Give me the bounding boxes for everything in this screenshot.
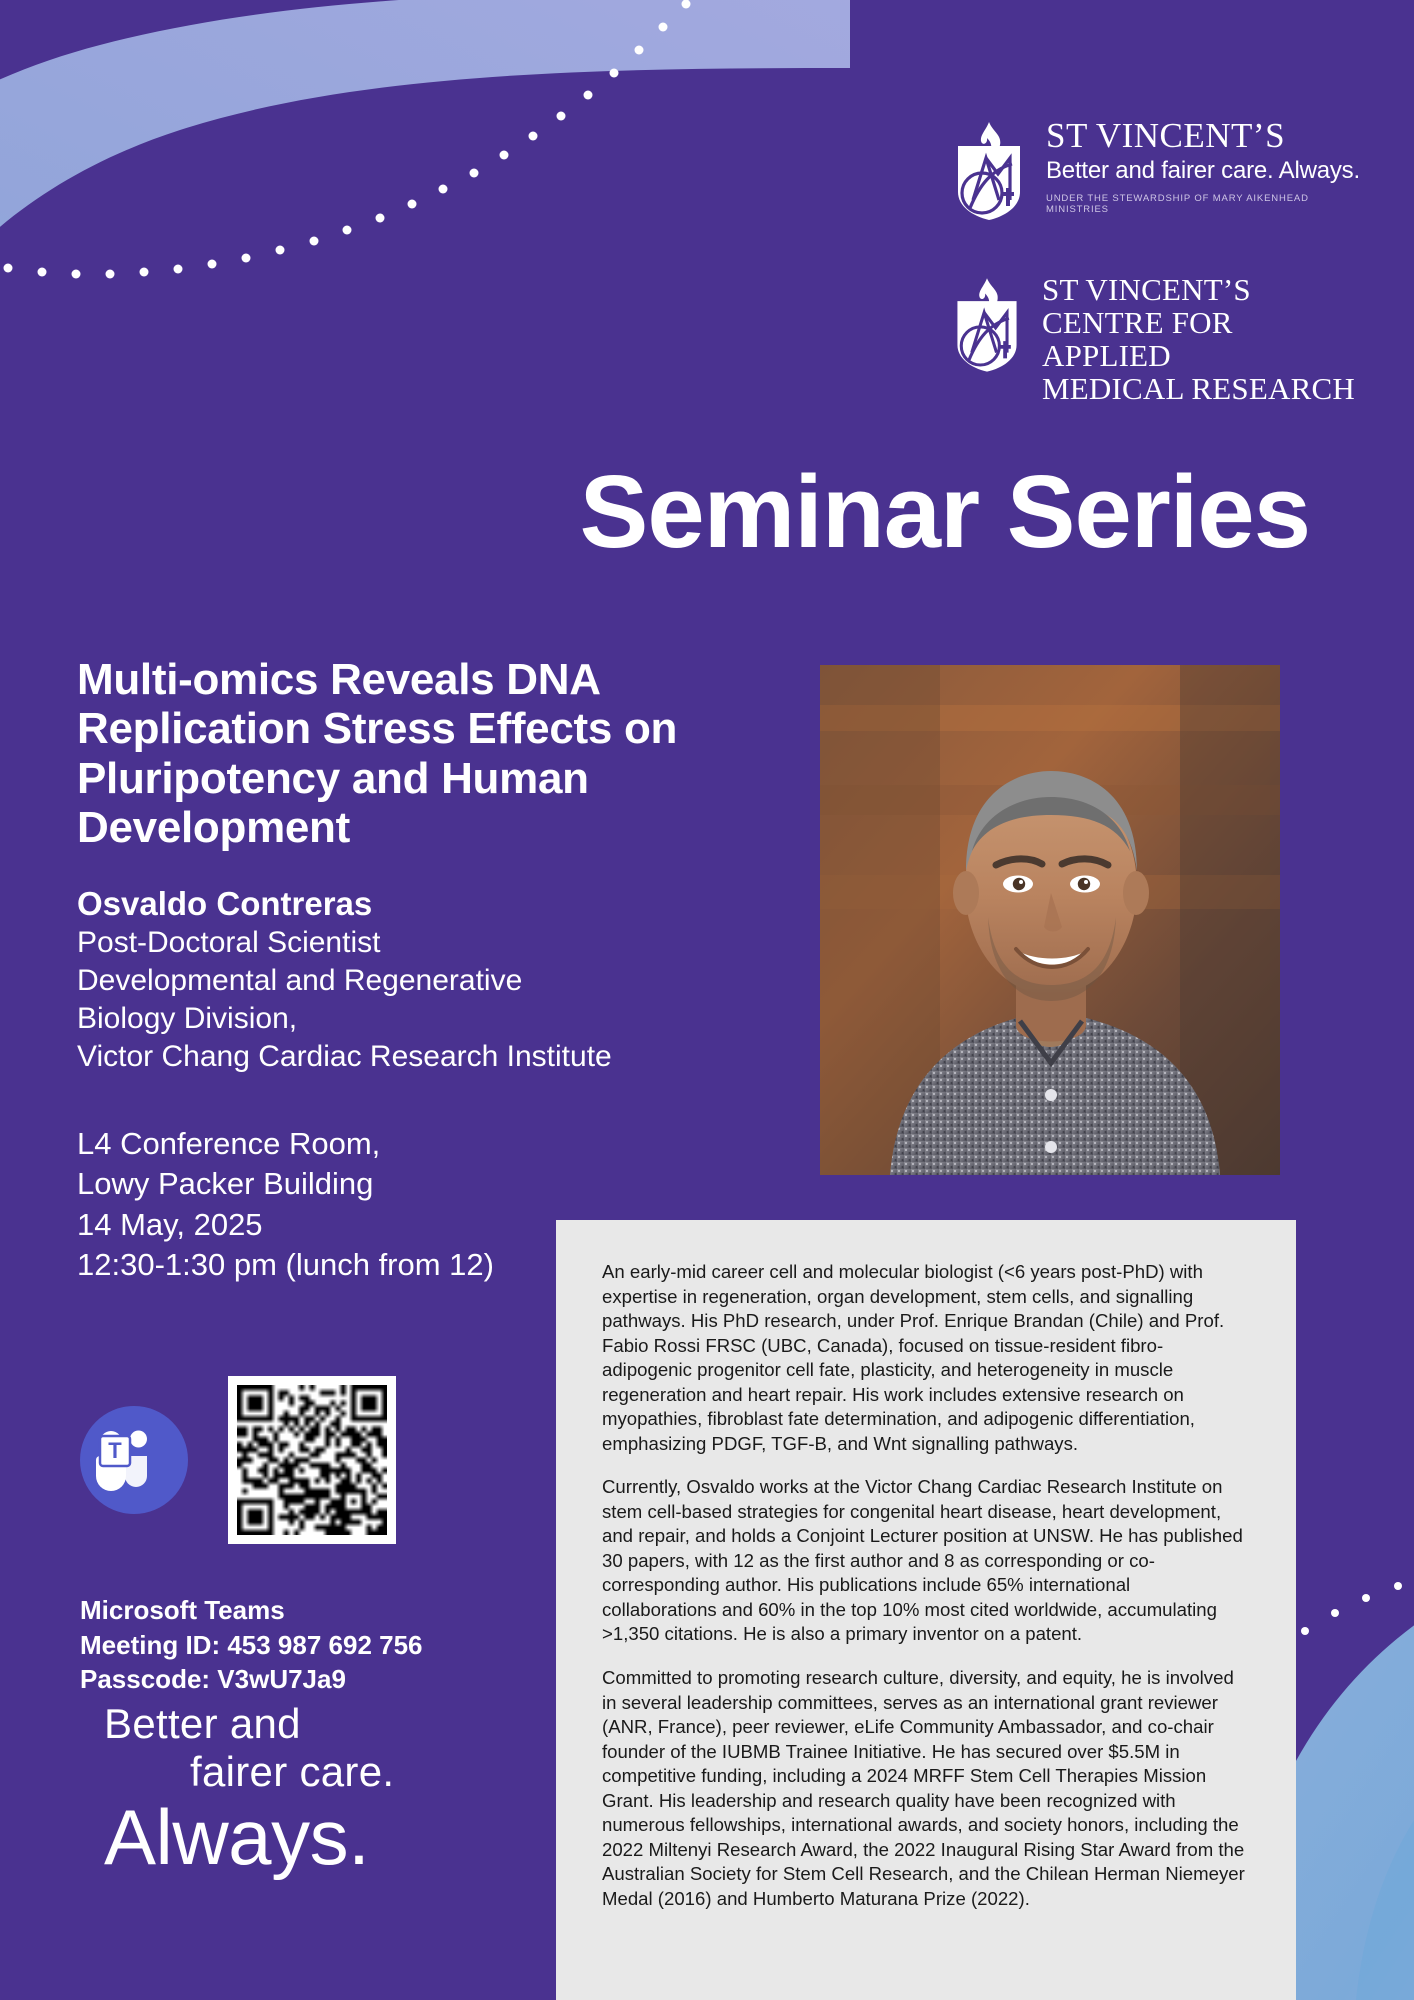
logo-primary-tagline: Better and fairer care. Always. — [1046, 156, 1366, 186]
svg-text:T: T — [108, 1438, 122, 1463]
speaker-name: Osvaldo Contreras — [77, 884, 812, 924]
bio-paragraph: An early-mid career cell and molecular b… — [602, 1260, 1250, 1456]
bio-paragraph: Currently, Osvaldo works at the Victor C… — [602, 1475, 1250, 1647]
tagline-line1: Better and — [104, 1700, 394, 1748]
bio-paragraph: Committed to promoting research culture,… — [602, 1666, 1250, 1911]
microsoft-teams-icon[interactable]: T — [80, 1406, 188, 1514]
st-vincents-primary-logo: ST VINCENT’S Better and fairer care. Alw… — [946, 118, 1366, 222]
st-vincents-camr-logo: ST VINCENT’S CENTRE FOR APPLIED MEDICAL … — [946, 274, 1366, 405]
teams-platform-label: Microsoft Teams — [80, 1593, 423, 1628]
left-info-column: Multi-omics Reveals DNA Replication Stre… — [77, 655, 812, 1285]
qr-code-icon[interactable] — [228, 1376, 396, 1544]
speaker-institute: Victor Chang Cardiac Research Institute — [77, 1038, 812, 1076]
teams-meeting-info: Microsoft Teams Meeting ID: 453 987 692 … — [80, 1593, 423, 1697]
tagline-line3: Always. — [104, 1798, 394, 1878]
teams-meeting-id: Meeting ID: 453 987 692 756 — [80, 1628, 423, 1663]
logo-camr-line2: CENTRE FOR APPLIED — [1042, 307, 1366, 373]
venue-building: Lowy Packer Building — [77, 1164, 812, 1204]
speaker-headshot — [820, 665, 1280, 1175]
logo-camr-line3: MEDICAL RESEARCH — [1042, 373, 1366, 406]
speaker-division-line1: Developmental and Regenerative — [77, 962, 812, 1000]
logo-camr-line1: ST VINCENT’S — [1042, 274, 1366, 307]
venue-room: L4 Conference Room, — [77, 1124, 812, 1164]
join-row: T — [80, 1376, 396, 1544]
seminar-poster: ST VINCENT’S Better and fairer care. Alw… — [0, 0, 1414, 2000]
dotted-arc-decoration-top — [0, 0, 1060, 330]
speaker-block: Osvaldo Contreras Post-Doctoral Scientis… — [77, 884, 812, 1076]
page-title: Seminar Series — [0, 460, 1310, 563]
logo-block: ST VINCENT’S Better and fairer care. Alw… — [946, 118, 1366, 405]
logo-primary-name: ST VINCENT’S — [1046, 118, 1366, 153]
speaker-role: Post-Doctoral Scientist — [77, 924, 812, 962]
talk-title: Multi-omics Reveals DNA Replication Stre… — [77, 655, 812, 852]
tagline-line2: fairer care. — [190, 1748, 394, 1796]
speaker-division-line2: Biology Division, — [77, 1000, 812, 1038]
speaker-bio-panel: An early-mid career cell and molecular b… — [556, 1220, 1296, 2000]
logo-primary-stewardship: UNDER THE STEWARDSHIP OF MARY AIKENHEAD … — [1046, 193, 1366, 215]
teams-passcode: Passcode: V3wU7Ja9 — [80, 1662, 423, 1697]
flame-shield-crest-icon — [946, 118, 1032, 222]
brand-tagline: Better and fairer care. Always. — [104, 1700, 394, 1878]
flame-shield-crest-icon — [946, 274, 1028, 374]
